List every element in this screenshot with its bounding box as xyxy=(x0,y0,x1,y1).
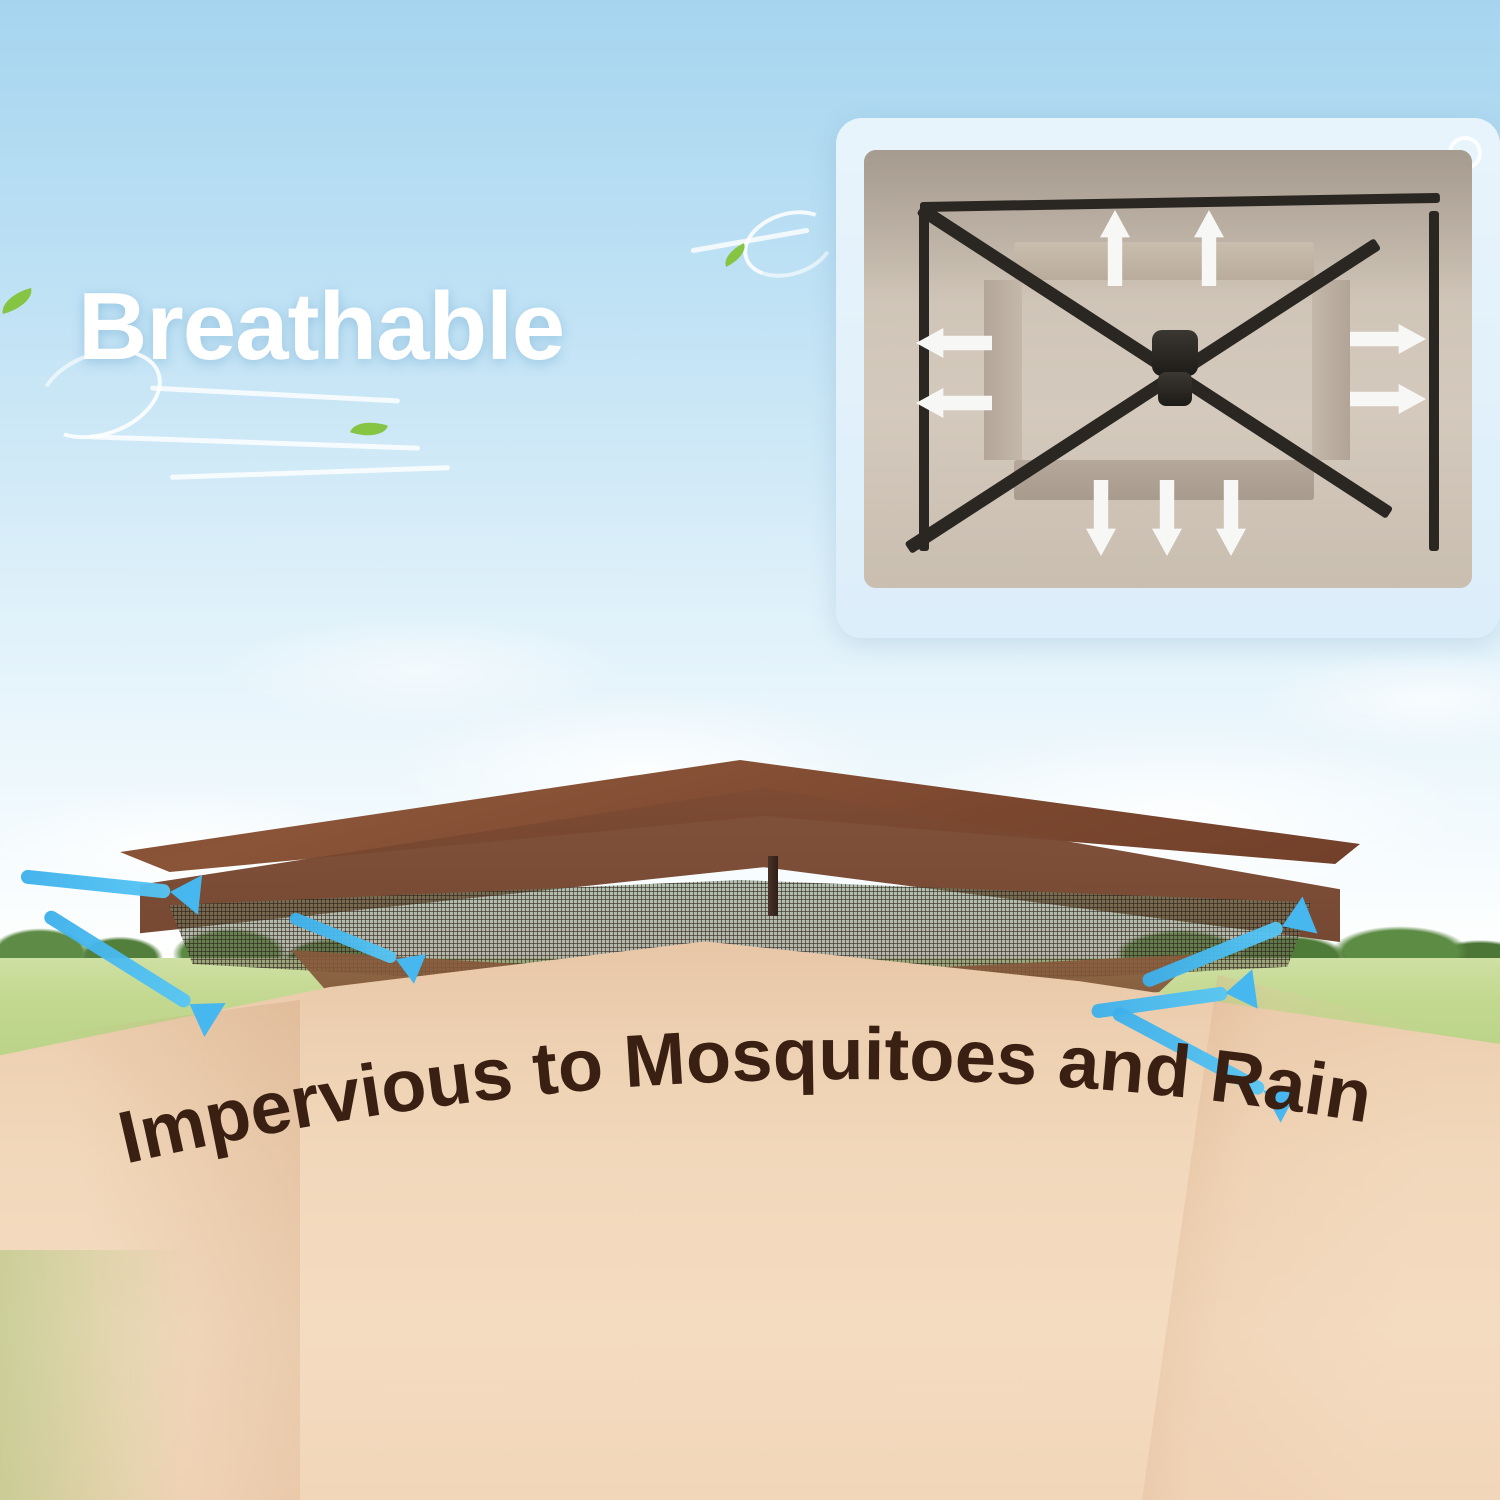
inset-frame-bar-right-edge xyxy=(1429,211,1439,551)
inset-frame-bar-left-edge xyxy=(919,211,929,551)
product-marketing-image: Breathable xyxy=(0,0,1500,1500)
inset-detail-panel xyxy=(836,118,1500,638)
center-pole xyxy=(768,856,778,916)
inset-vent-panel-left xyxy=(984,280,1022,460)
inset-canopy-interior-photo xyxy=(864,150,1472,588)
inset-vent-panel-top xyxy=(1014,242,1314,280)
inset-vent-panel-right xyxy=(1312,280,1350,460)
canopy-shadow-left xyxy=(0,1250,190,1500)
inset-frame-hub xyxy=(1152,330,1198,376)
inset-frame-hub-lower xyxy=(1158,372,1192,406)
